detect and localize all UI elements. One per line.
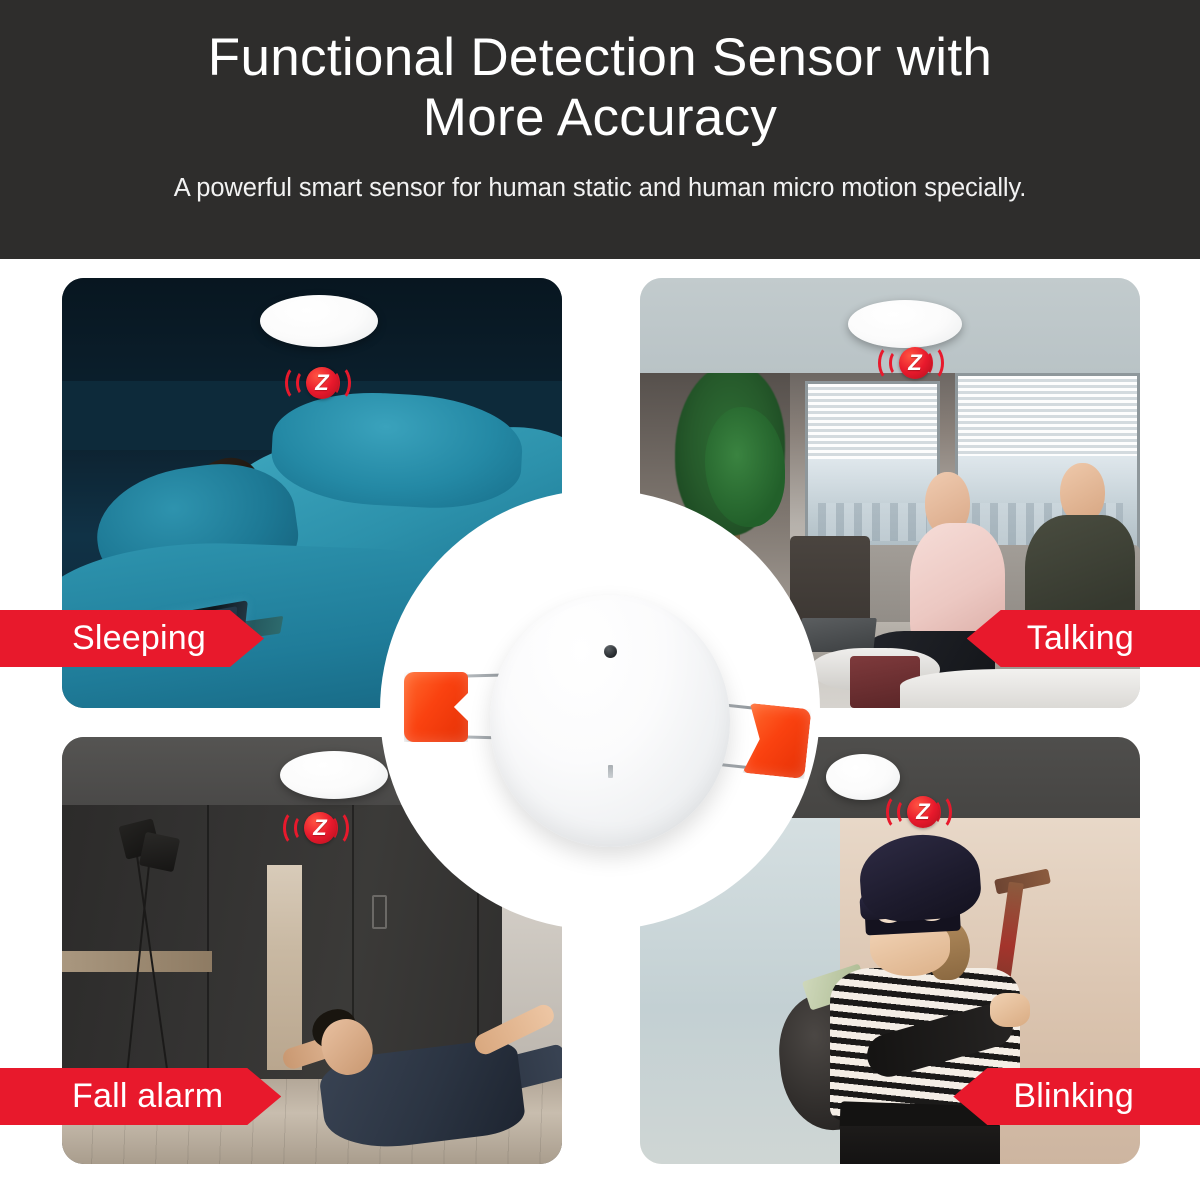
zigbee-icon: Z: [279, 360, 357, 406]
sensor-lens-hole-icon: [604, 645, 617, 658]
zigbee-icon: Z: [880, 789, 958, 835]
wood-door-panel: [267, 865, 302, 1070]
label-fall-alarm: Fall alarm: [0, 1068, 281, 1125]
page-title-line2: More Accuracy: [423, 88, 777, 147]
product-banner: Functional Detection Sensor with More Ac…: [0, 0, 1200, 1200]
page-subtitle: A powerful smart sensor for human static…: [174, 173, 1026, 203]
label-sleeping: Sleeping: [0, 610, 264, 667]
foreground-table: [900, 669, 1140, 708]
zigbee-icon: Z: [277, 805, 355, 851]
page-title-line1: Functional Detection Sensor with: [208, 28, 992, 87]
window-left: [805, 381, 940, 553]
label-blinking: Blinking: [953, 1068, 1200, 1125]
center-product-showcase: [380, 490, 820, 930]
sensor-device-body: [490, 595, 730, 847]
zigbee-badge: Z: [899, 347, 931, 379]
zigbee-badge: Z: [304, 812, 336, 844]
window-blinds-right: [958, 376, 1137, 462]
ceiling-sensor-lamp: [260, 295, 378, 347]
header-banner: Functional Detection Sensor with More Ac…: [0, 0, 1200, 259]
left-clip-body: [404, 672, 468, 742]
page-title: Functional Detection Sensor with More Ac…: [60, 28, 1140, 148]
floor-lamp-shade-2: [139, 832, 180, 873]
window-blinds-left: [808, 384, 937, 464]
zigbee-badge: Z: [306, 367, 338, 399]
zigbee-badge: Z: [907, 796, 939, 828]
right-clip-body: [743, 703, 812, 779]
burglar-hand: [990, 993, 1030, 1027]
ceiling-sensor-lamp: [280, 751, 388, 799]
sensor-indicator-mark: [608, 765, 613, 778]
burglar-pants: [840, 1126, 1000, 1164]
zigbee-icon: Z: [872, 340, 950, 386]
label-talking: Talking: [967, 610, 1200, 667]
